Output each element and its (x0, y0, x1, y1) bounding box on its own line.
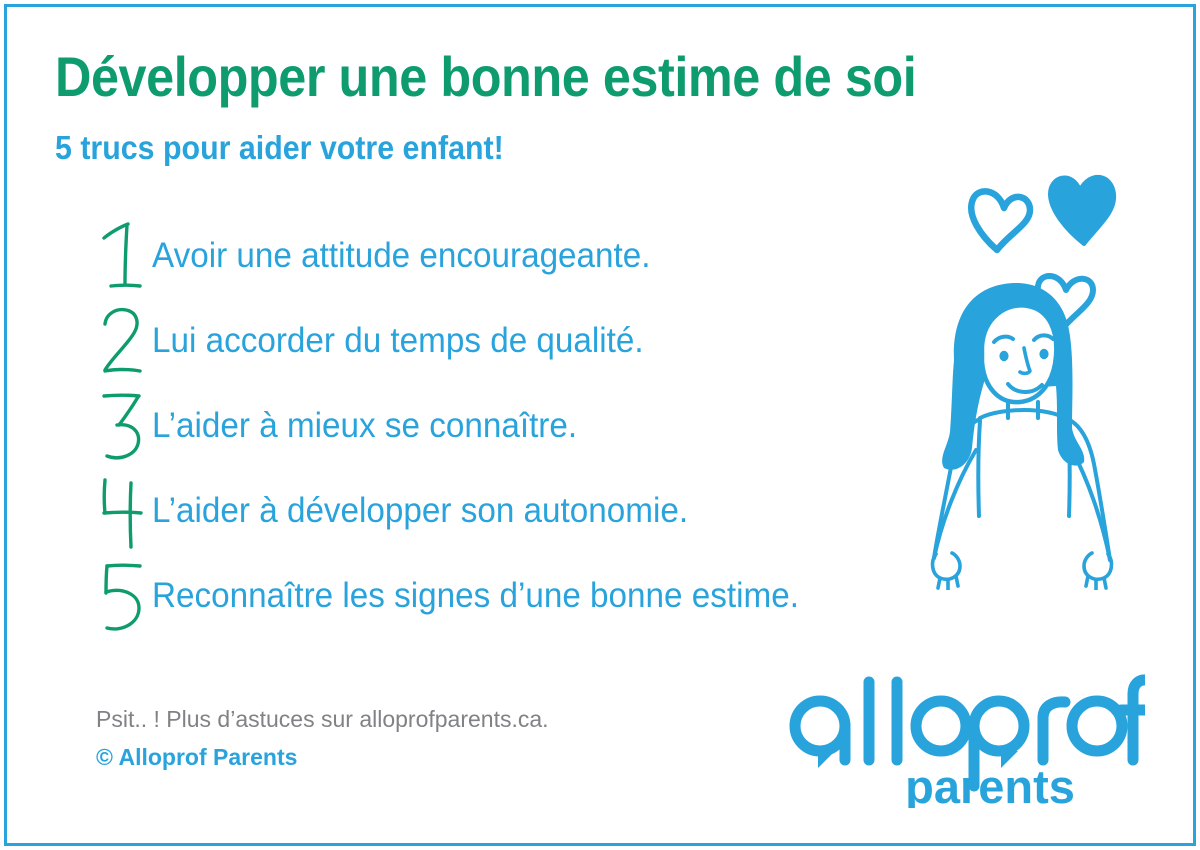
tip-text-3: L’aider à mieux se connaître. (152, 406, 577, 446)
page-title: Développer une bonne estime de soi (55, 48, 916, 107)
tip-number-2 (96, 307, 152, 387)
tip-text-4: L’aider à développer son autonomie. (152, 491, 688, 531)
page-subtitle: 5 trucs pour aider votre enfant! (55, 129, 504, 167)
girl-eye-left (999, 351, 1008, 361)
tips-list: Avoir une attitude encourageante. Lui ac… (96, 222, 936, 647)
tip-text-2: Lui accorder du temps de qualité. (152, 321, 644, 361)
girl-sweater (934, 419, 1110, 560)
heart-filled-right (1050, 177, 1114, 244)
infographic-card: Développer une bonne estime de soi 5 tru… (0, 0, 1200, 850)
list-item: Lui accorder du temps de qualité. (96, 307, 936, 392)
logo-parents-word: parents (905, 760, 1075, 808)
alloprof-parents-logo: parents (785, 668, 1145, 808)
footer-credit: © Alloprof Parents (96, 744, 297, 771)
tip-number-3 (96, 392, 152, 472)
list-item: Avoir une attitude encourageante. (96, 222, 936, 307)
logo-letter-a (795, 701, 845, 768)
tip-number-1 (96, 222, 152, 302)
tip-number-5 (96, 562, 152, 642)
list-item: Reconnaître les signes d’une bonne estim… (96, 562, 936, 647)
list-item: L’aider à mieux se connaître. (96, 392, 936, 477)
logo-letter-r (1043, 702, 1065, 760)
girl-hand-right (1084, 553, 1111, 590)
logo-letter-o1 (916, 701, 966, 751)
tip-number-4 (96, 477, 152, 557)
list-item: L’aider à développer son autonomie. (96, 477, 936, 562)
girl-with-hearts-illustration (858, 150, 1158, 590)
logo-letter-o2 (1072, 701, 1122, 751)
girl-collar (980, 410, 1068, 419)
tip-text-1: Avoir une attitude encourageante. (152, 236, 651, 276)
tip-text-5: Reconnaître les signes d’une bonne estim… (152, 576, 799, 616)
girl-hand-left (933, 553, 960, 590)
footer-note: Psit.. ! Plus d’astuces sur alloprofpare… (96, 706, 549, 733)
heart-outline-left (971, 191, 1030, 250)
girl-eye-right (1039, 349, 1048, 359)
